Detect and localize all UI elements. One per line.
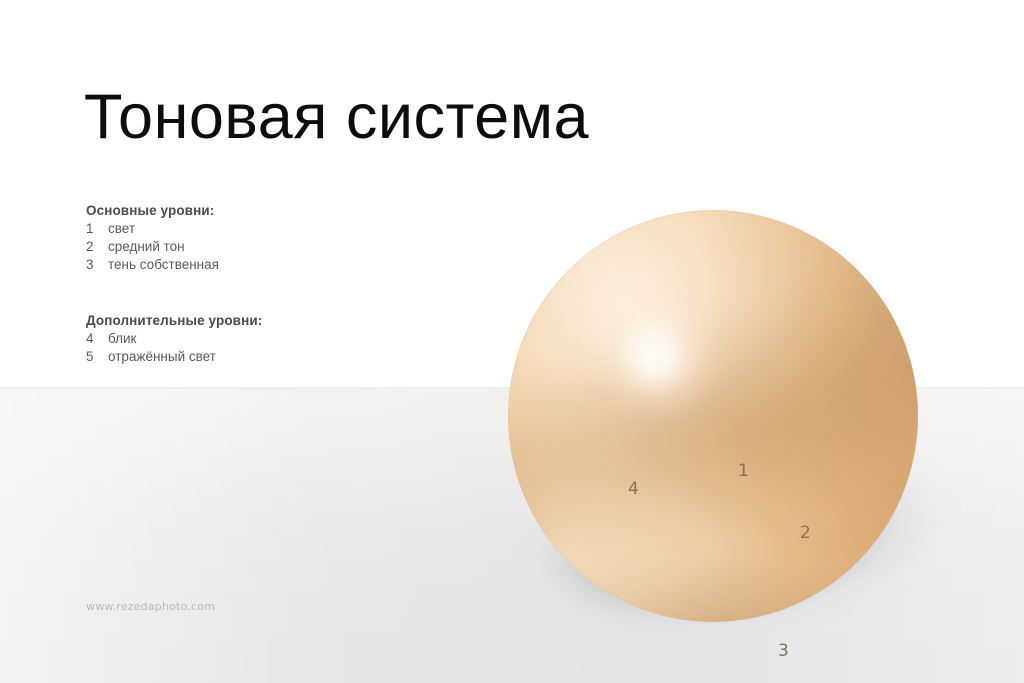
watermark: www.rezedaphoto.com: [86, 600, 215, 613]
legend-item-4: 4 блик: [86, 331, 262, 349]
legend-item-1-label: свет: [108, 221, 135, 236]
page-title: Тоновая система: [84, 83, 589, 151]
legend-item-2: 2 средний тон: [86, 239, 219, 257]
legend-item-5-label: отражённый свет: [108, 349, 216, 364]
legend-item-3-number: 3: [86, 257, 108, 272]
legend-item-3-label: тень собственная: [108, 257, 219, 272]
legend-secondary-heading: Дополнительные уровни:: [86, 313, 262, 328]
legend-item-4-label: блик: [108, 331, 136, 346]
legend-item-5-number: 5: [86, 349, 108, 364]
legend-item-1-number: 1: [86, 221, 108, 236]
legend-item-2-number: 2: [86, 239, 108, 254]
legend-item-5: 5 отражённый свет: [86, 349, 262, 367]
legend-item-1: 1 свет: [86, 221, 219, 239]
sphere-edge-antialias: [508, 210, 918, 622]
legend-item-3: 3 тень собственная: [86, 257, 219, 275]
legend-item-4-number: 4: [86, 331, 108, 346]
legend-item-2-label: средний тон: [108, 239, 185, 254]
sphere-marker-2: 2: [800, 525, 811, 542]
sphere-marker-1: 1: [738, 463, 749, 480]
slide-canvas: Тоновая система Основные уровни: 1 свет …: [0, 0, 1024, 683]
legend-primary-levels: Основные уровни: 1 свет 2 средний тон 3 …: [86, 203, 219, 275]
sphere-marker-3: 3: [778, 643, 789, 660]
sphere-scene: 1 2 3 4 5: [470, 175, 1024, 683]
sphere-illustration: [508, 210, 918, 622]
legend-secondary-levels: Дополнительные уровни: 4 блик 5 отражённ…: [86, 313, 262, 367]
legend-primary-heading: Основные уровни:: [86, 203, 219, 218]
sphere-marker-4: 4: [628, 481, 639, 498]
